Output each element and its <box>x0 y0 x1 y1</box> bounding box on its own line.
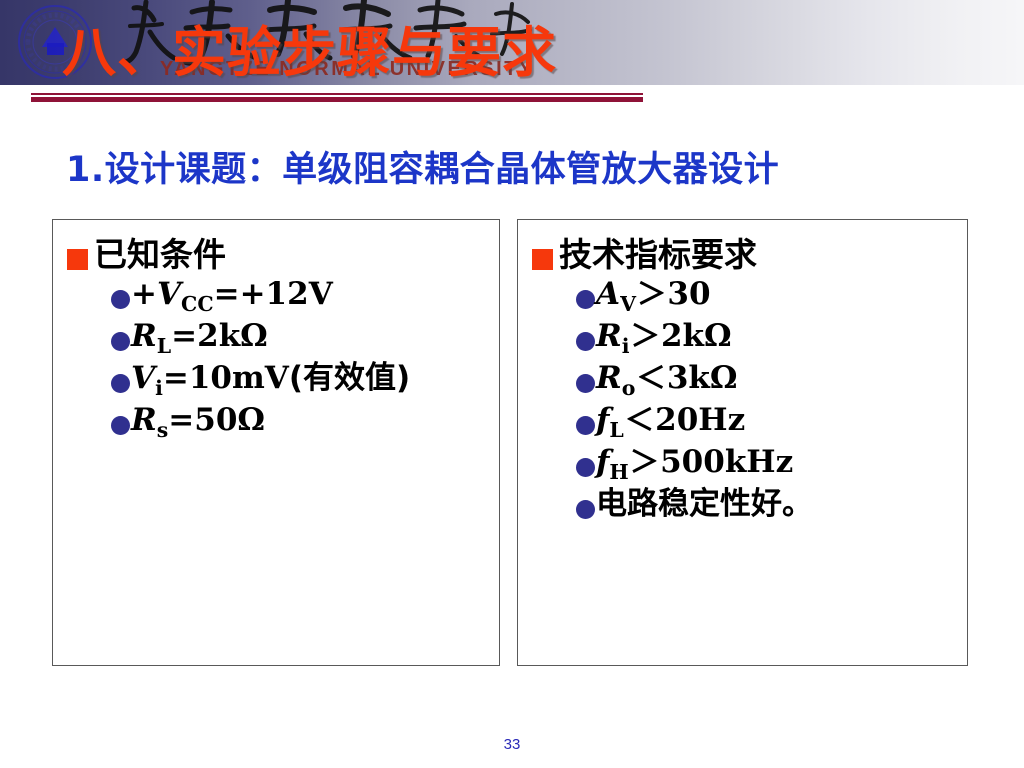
dot-bullet-icon <box>576 332 595 351</box>
divider-thin-line <box>31 93 643 95</box>
list-item: +VCC=+12V <box>111 278 499 315</box>
page-number: 33 <box>0 736 1024 753</box>
item-value: 2kΩ <box>197 318 268 354</box>
item-symbol: A <box>596 276 620 312</box>
divider-thick-line <box>31 97 643 102</box>
item-symbol: R <box>596 360 622 396</box>
item-value: 50Ω <box>194 402 265 438</box>
dot-bullet-icon <box>111 416 130 435</box>
item-symbol: R <box>596 318 622 354</box>
page-title: 八、实验步骤与要求 <box>62 8 557 85</box>
box-heading-technical-requirements: 技术指标要求 <box>532 236 967 274</box>
list-item-label: Rs=50Ω <box>131 404 265 441</box>
item-subscript: o <box>622 376 636 400</box>
list-item: fL＜20Hz <box>576 404 967 441</box>
item-subscript: V <box>620 292 636 316</box>
dot-bullet-icon <box>576 458 595 477</box>
square-bullet-icon <box>67 249 88 270</box>
list-item-label: Vi=10mV(有效值) <box>131 362 410 399</box>
slide-subtitle: 1.设计课题：单级阻容耦合晶体管放大器设计 <box>66 141 976 192</box>
dot-bullet-icon <box>576 416 595 435</box>
technical-requirements-list: AV＞30 Ri＞2kΩ Ro＜3kΩ fL＜20Hz fH＞500kHz 电路… <box>518 278 967 522</box>
list-item-label: fL＜20Hz <box>596 404 745 441</box>
item-symbol: V <box>131 360 155 396</box>
technical-requirements-box: 技术指标要求 AV＞30 Ri＞2kΩ Ro＜3kΩ fL＜20Hz fH＞50… <box>517 219 968 666</box>
item-relation: ＞ <box>630 319 661 353</box>
list-item: Rs=50Ω <box>111 404 499 441</box>
item-relation: ＞ <box>636 277 667 311</box>
item-subscript: i <box>155 376 163 400</box>
item-value: 20Hz <box>655 402 745 438</box>
item-relation: ＜ <box>635 361 666 395</box>
list-item-label: 电路稳定性好。 <box>596 488 813 521</box>
item-subscript: L <box>157 334 171 358</box>
dot-bullet-icon <box>111 374 130 393</box>
list-item: AV＞30 <box>576 278 967 315</box>
item-relation: = <box>163 360 189 396</box>
item-subscript: H <box>609 460 628 484</box>
item-note: (有效值) <box>289 360 410 396</box>
square-bullet-icon <box>532 249 553 270</box>
item-relation: = <box>171 318 197 354</box>
list-item: fH＞500kHz <box>576 446 967 483</box>
dot-bullet-icon <box>576 374 595 393</box>
item-symbol: f <box>596 444 609 480</box>
item-symbol: R <box>131 402 157 438</box>
horizontal-divider <box>31 93 643 102</box>
item-prefix: + <box>131 276 157 312</box>
list-item-label: RL=2kΩ <box>131 320 268 357</box>
dot-bullet-icon <box>576 500 595 519</box>
item-value: 3kΩ <box>667 360 738 396</box>
known-conditions-list: +VCC=+12V RL=2kΩ Vi=10mV(有效值) Rs=50Ω <box>53 278 499 441</box>
dot-bullet-icon <box>576 290 595 309</box>
item-subscript: s <box>157 418 169 442</box>
list-item-label: Ro＜3kΩ <box>596 362 738 399</box>
item-symbol: R <box>131 318 157 354</box>
list-item-label: +VCC=+12V <box>131 278 333 315</box>
list-item-label: fH＞500kHz <box>596 446 793 483</box>
list-item-label: AV＞30 <box>596 278 711 315</box>
item-relation: = <box>214 276 240 312</box>
item-symbol: f <box>596 402 609 438</box>
item-value: 30 <box>667 276 710 312</box>
item-symbol: V <box>157 276 181 312</box>
list-item: 电路稳定性好。 <box>576 488 967 521</box>
item-value: 10mV <box>189 360 289 396</box>
known-conditions-box: 已知条件 +VCC=+12V RL=2kΩ Vi=10mV(有效值) Rs=50… <box>52 219 500 666</box>
list-item: Ri＞2kΩ <box>576 320 967 357</box>
list-item: RL=2kΩ <box>111 320 499 357</box>
box-heading-label: 技术指标要求 <box>559 236 757 274</box>
list-item-label: Ri＞2kΩ <box>596 320 732 357</box>
item-value: 2kΩ <box>661 318 732 354</box>
title-banner: YANGTZE NORMAL UNIVERSITY 八、实验步骤与要求 <box>0 0 1024 85</box>
box-heading-label: 已知条件 <box>94 236 226 274</box>
item-relation: = <box>168 402 194 438</box>
item-value: +12V <box>240 276 333 312</box>
list-item: Vi=10mV(有效值) <box>111 362 499 399</box>
item-value: 500kHz <box>660 444 793 480</box>
dot-bullet-icon <box>111 290 130 309</box>
item-subscript: i <box>622 334 630 358</box>
item-subscript: L <box>609 418 623 442</box>
item-subscript: CC <box>181 292 214 316</box>
item-relation: ＞ <box>629 445 660 479</box>
dot-bullet-icon <box>111 332 130 351</box>
item-relation: ＜ <box>624 403 655 437</box>
box-heading-known-conditions: 已知条件 <box>67 236 499 274</box>
list-item: Ro＜3kΩ <box>576 362 967 399</box>
